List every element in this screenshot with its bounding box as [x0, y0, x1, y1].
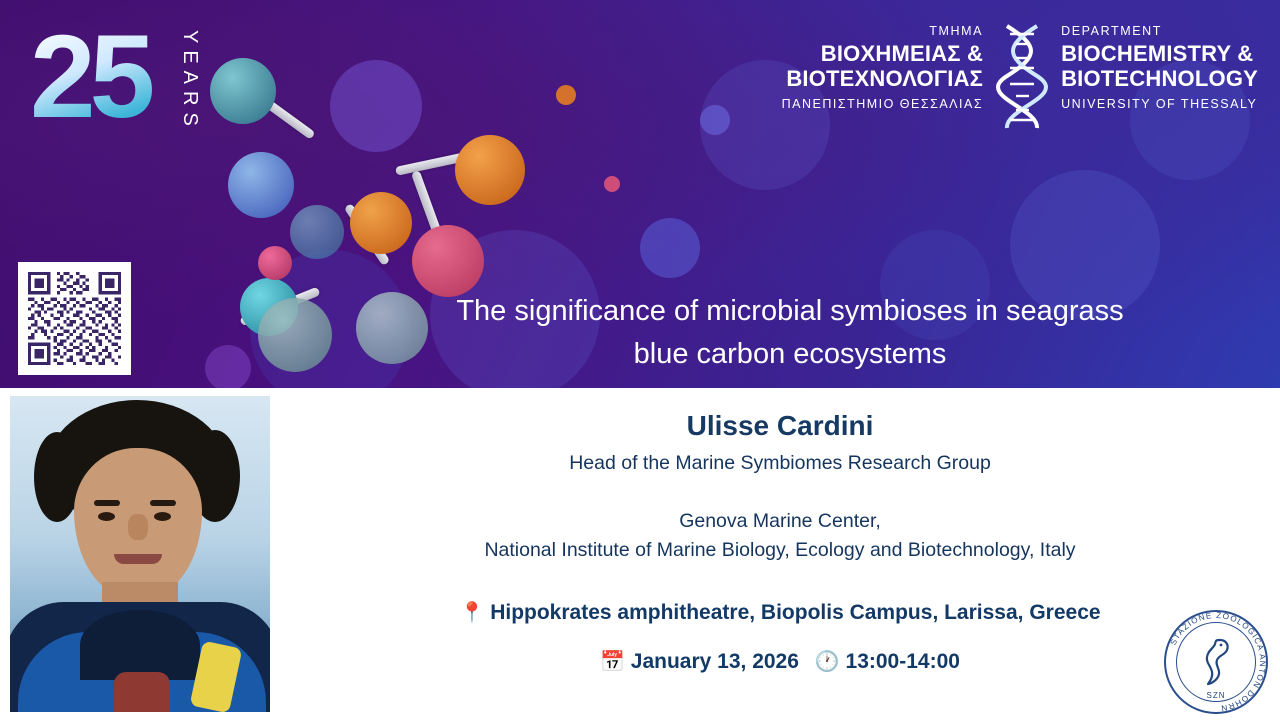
department-logo: ΤΜΗΜΑ ΒΙΟΧΗΜΕΙΑΣ & ΒΙΟΤΕΧΝΟΛΟΓΙΑΣ ΠΑΝΕΠΙ…	[782, 22, 1258, 132]
speaker-role: Head of the Marine Symbiomes Research Gr…	[280, 452, 1280, 475]
photo-mouth	[114, 554, 162, 564]
dept-greek-line1: ΒΙΟΧΗΜΕΙΑΣ &	[782, 41, 983, 66]
speaker-name: Ulisse Cardini	[280, 410, 1280, 442]
event-datetime: 📅 January 13, 2026 🕐 13:00-14:00	[280, 649, 1280, 674]
molecule-atom	[412, 225, 484, 297]
location-pin-icon: 📍	[459, 602, 484, 624]
molecule-atom	[258, 246, 292, 280]
photo-shirt	[114, 672, 170, 712]
talk-title-line1: The significance of microbial symbioses …	[340, 290, 1240, 333]
event-venue-text: Hippokrates amphitheatre, Biopolis Campu…	[490, 601, 1100, 624]
bokeh-circle	[700, 105, 730, 135]
molecule-atom	[455, 135, 525, 205]
qr-code-image	[28, 272, 121, 365]
dept-greek-line2: ΒΙΟΤΕΧΝΟΛΟΓΙΑΣ	[782, 66, 983, 91]
molecule-atom	[350, 192, 412, 254]
poster-details: Ulisse Cardini Head of the Marine Symbio…	[0, 388, 1280, 720]
speaker-affiliation: Genova Marine Center, National Institute…	[280, 507, 1280, 566]
dept-english-kicker: DEPARTMENT	[1061, 22, 1258, 41]
photo-nose	[128, 514, 148, 540]
dept-greek-university: ΠΑΝΕΠΙΣΤΗΜΙΟ ΘΕΣΣΑΛΙΑΣ	[782, 97, 983, 111]
dept-english-line2: BIOTECHNOLOGY	[1061, 66, 1258, 91]
qr-code[interactable]	[18, 262, 131, 375]
photo-brow-right	[150, 500, 176, 506]
event-date-text: January 13, 2026	[631, 650, 799, 673]
photo-eye-left	[98, 512, 115, 521]
seahorse-icon	[1200, 636, 1234, 688]
photo-collar	[80, 610, 200, 680]
calendar-icon: 📅	[600, 651, 625, 673]
talk-title: The significance of microbial symbioses …	[340, 290, 1240, 375]
poster-banner: 25 YEARS ΤΜΗΜΑ ΒΙΟΧΗΜΕΙΑΣ & ΒΙΟΤΕΧΝΟΛΟΓΙ…	[0, 0, 1280, 388]
dept-greek-kicker: ΤΜΗΜΑ	[782, 22, 983, 41]
speaker-photo	[10, 396, 270, 712]
anniversary-number: 25	[30, 18, 260, 136]
molecule-atom	[290, 205, 344, 259]
seminar-poster: 25 YEARS ΤΜΗΜΑ ΒΙΟΧΗΜΕΙΑΣ & ΒΙΟΤΕΧΝΟΛΟΓΙ…	[0, 0, 1280, 720]
photo-eye-right	[154, 512, 171, 521]
event-time-text: 13:00-14:00	[846, 650, 960, 673]
anniversary-years-label: YEARS	[178, 30, 201, 133]
molecule-atom	[258, 298, 332, 372]
affiliation-line1: Genova Marine Center,	[280, 507, 1280, 536]
szn-abbrev: SZN	[1164, 691, 1268, 700]
molecule-atom	[228, 152, 294, 218]
dept-english-line1: BIOCHEMISTRY &	[1061, 41, 1258, 66]
photo-brow-left	[94, 500, 120, 506]
bokeh-circle	[640, 218, 700, 278]
dept-english-university: UNIVERSITY OF THESSALY	[1061, 97, 1258, 111]
clock-icon: 🕐	[815, 651, 840, 673]
speaker-details: Ulisse Cardini Head of the Marine Symbio…	[280, 388, 1280, 720]
event-venue: 📍 Hippokrates amphitheatre, Biopolis Cam…	[280, 600, 1280, 625]
dna-helix-icon	[993, 22, 1051, 132]
anniversary-logo: 25 YEARS	[30, 18, 260, 158]
szn-logo: STAZIONE ZOOLOGICA ANTON DOHRN SZN	[1164, 610, 1268, 714]
talk-title-line2: blue carbon ecosystems	[340, 333, 1240, 376]
affiliation-line2: National Institute of Marine Biology, Ec…	[280, 536, 1280, 565]
